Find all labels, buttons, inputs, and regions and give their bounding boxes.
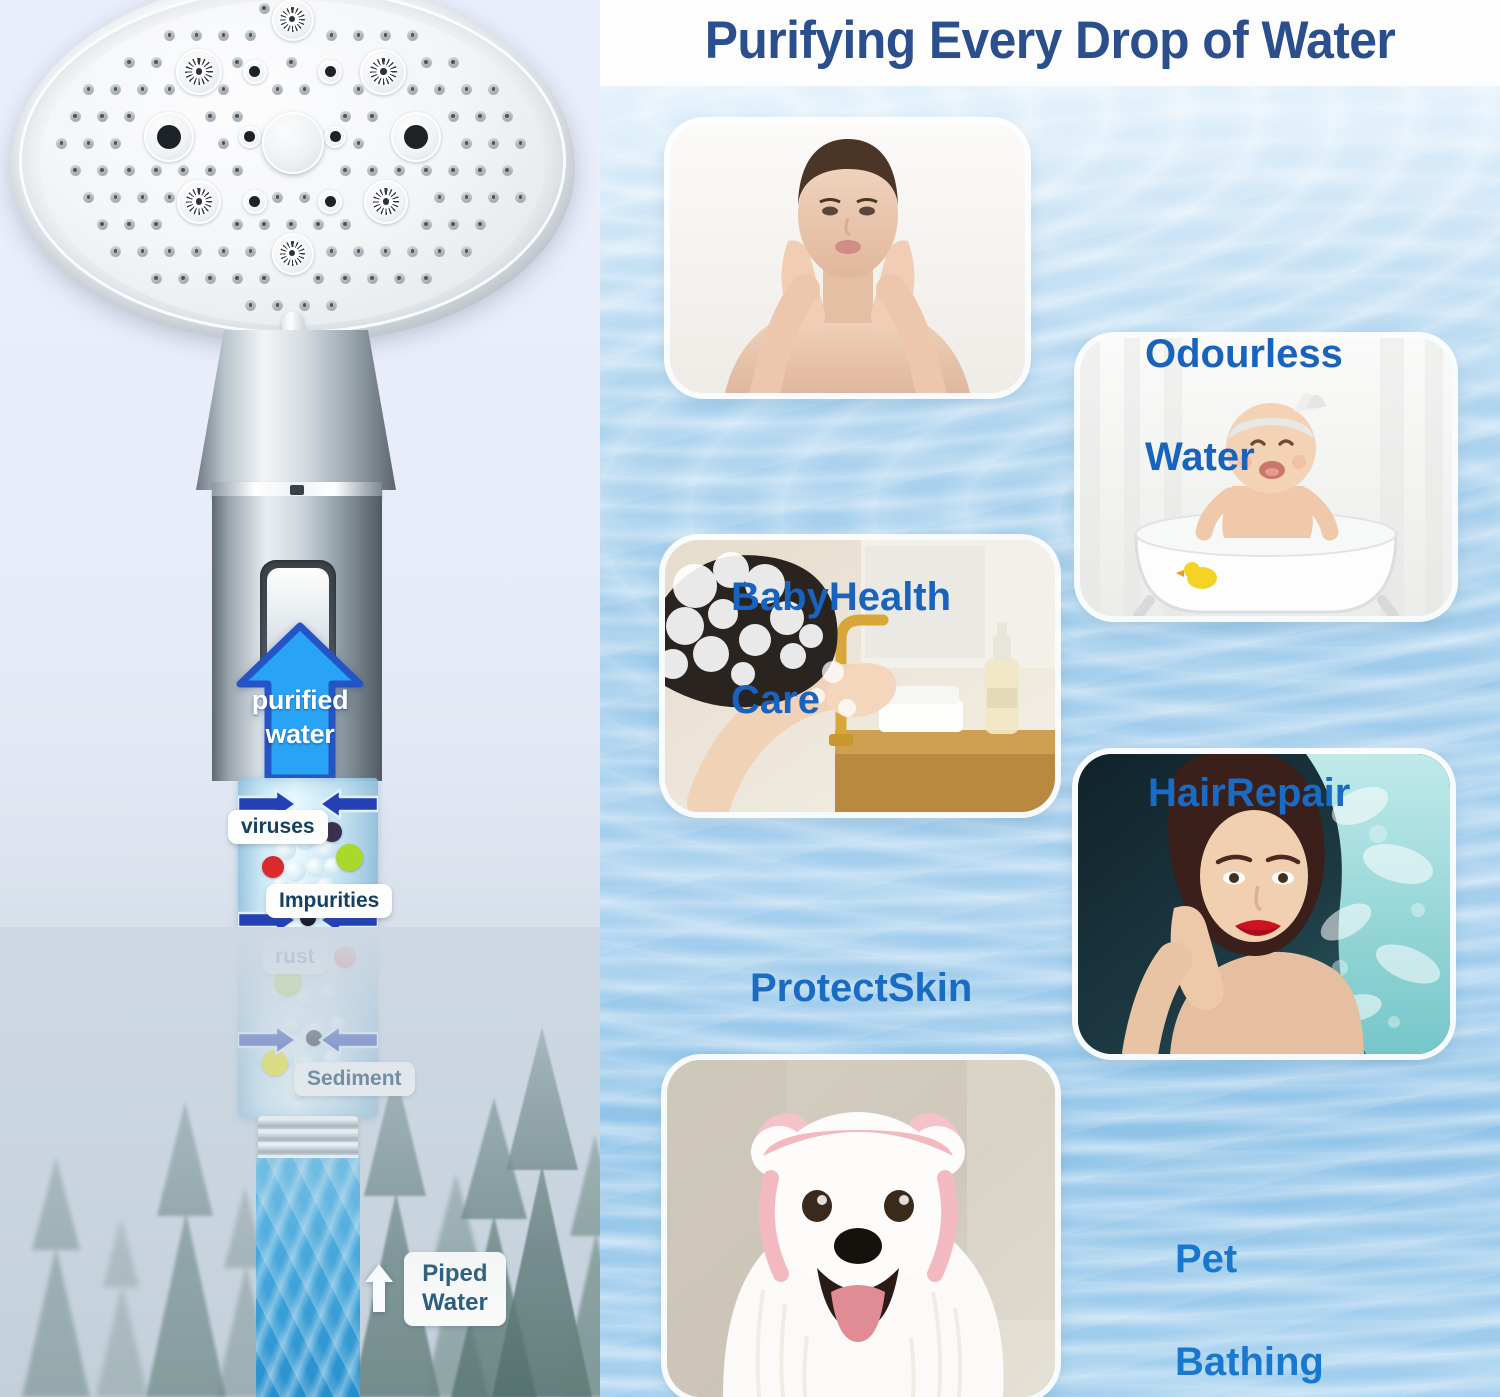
shower-nozzle (461, 192, 472, 203)
shower-nozzle (137, 84, 148, 95)
shower-nozzle (232, 219, 243, 230)
shower-nozzle (97, 111, 108, 122)
right-panel-benefits: Purifying Every Drop of Water (600, 0, 1500, 1397)
shower-nozzle (178, 165, 189, 176)
shower-nozzle (191, 30, 202, 41)
shower-nozzle (461, 138, 472, 149)
feature-label-odourless: Odourless Water (1145, 278, 1465, 483)
shower-nozzle (313, 219, 324, 230)
handle-neck (196, 330, 396, 490)
shower-nozzle (137, 246, 148, 257)
shower-nozzle (205, 165, 216, 176)
shower-center-hub (262, 112, 324, 174)
shower-nozzle (137, 192, 148, 203)
shower-jet (318, 60, 342, 84)
shower-nozzle (326, 246, 337, 257)
shower-nozzle (434, 192, 445, 203)
dog-being-bathed-image (667, 1060, 1055, 1397)
shower-nozzle (394, 165, 405, 176)
purified-water-label: purifiedwater (236, 684, 364, 752)
shower-head (10, 0, 575, 343)
forest-haze (0, 927, 600, 1397)
particle-green-1 (336, 844, 363, 871)
shower-nozzle (367, 165, 378, 176)
shower-nozzle (407, 84, 418, 95)
shower-nozzle (164, 84, 175, 95)
callout-viruses: viruses (228, 810, 328, 844)
shower-nozzle (448, 165, 459, 176)
shower-nozzle (421, 165, 432, 176)
shower-jet (243, 60, 267, 84)
shower-nozzle (421, 219, 432, 230)
pet-line1: Pet (1175, 1237, 1237, 1281)
particle-red-1 (262, 856, 284, 878)
shower-nozzle (299, 192, 310, 203)
odourless-line2: Water (1145, 435, 1255, 479)
pet-line2: Bathing (1175, 1340, 1324, 1384)
shower-nozzle (448, 57, 459, 68)
shower-nozzle (245, 30, 256, 41)
shower-nozzle (245, 246, 256, 257)
shower-nozzle (232, 165, 243, 176)
shower-nozzle (124, 165, 135, 176)
shower-nozzle (299, 84, 310, 95)
shower-nozzle (83, 192, 94, 203)
purified-line1: purified (252, 685, 349, 715)
shower-nozzle (151, 219, 162, 230)
shower-nozzle (110, 84, 121, 95)
shower-nozzle (461, 84, 472, 95)
shower-nozzle (421, 273, 432, 284)
shower-nozzle (83, 138, 94, 149)
shower-nozzle (218, 84, 229, 95)
shower-nozzle (488, 192, 499, 203)
shower-jet (272, 233, 314, 275)
shower-nozzle (340, 219, 351, 230)
shower-nozzle (475, 165, 486, 176)
shower-nozzle (151, 273, 162, 284)
shower-nozzle (286, 219, 297, 230)
shower-nozzle (434, 84, 445, 95)
shower-nozzle (164, 192, 175, 203)
shower-jet (144, 112, 194, 162)
shower-nozzle (272, 300, 283, 311)
shower-jet (318, 190, 342, 214)
feature-label-pet-bathing: Pet Bathing (1175, 1183, 1495, 1388)
shower-nozzle (151, 57, 162, 68)
shower-nozzle (475, 219, 486, 230)
shower-nozzle (164, 246, 175, 257)
shower-nozzle (353, 84, 364, 95)
shower-nozzle (340, 111, 351, 122)
shower-jet (239, 126, 261, 148)
purified-line2: water (265, 719, 334, 749)
shower-nozzle (326, 30, 337, 41)
shower-nozzle (340, 165, 351, 176)
shower-nozzle (407, 30, 418, 41)
shower-nozzle (178, 273, 189, 284)
shower-nozzle (353, 246, 364, 257)
shower-nozzle (70, 111, 81, 122)
forest-background (0, 927, 600, 1397)
shower-nozzle (434, 246, 445, 257)
shower-nozzle (205, 273, 216, 284)
shower-jet (324, 126, 346, 148)
shower-nozzle (272, 192, 283, 203)
babyhealth-line1: BabyHealth (731, 575, 951, 619)
shower-nozzle (488, 84, 499, 95)
shower-nozzle (110, 138, 121, 149)
woman-touching-face-image (670, 123, 1025, 393)
shower-nozzle (448, 219, 459, 230)
shower-nozzle (191, 246, 202, 257)
title-bar: Purifying Every Drop of Water (600, 0, 1500, 86)
shower-nozzle (299, 300, 310, 311)
shower-nozzle (232, 273, 243, 284)
shower-nozzle (56, 138, 67, 149)
shower-nozzle (502, 111, 513, 122)
left-panel-filter-diagram: purifiedwater (0, 0, 600, 1397)
shower-nozzle (97, 165, 108, 176)
odourless-line1: Odourless (1145, 332, 1343, 376)
page-title: Purifying Every Drop of Water (627, 10, 1473, 71)
shower-nozzle (124, 219, 135, 230)
shower-nozzle (407, 246, 418, 257)
shower-nozzle (110, 246, 121, 257)
shower-head-face (40, 0, 545, 325)
shower-nozzle (313, 273, 324, 284)
shower-nozzle (218, 246, 229, 257)
shower-nozzle (380, 30, 391, 41)
shower-nozzle (326, 300, 337, 311)
shower-nozzle (461, 246, 472, 257)
shower-nozzle (232, 57, 243, 68)
shower-nozzle (124, 111, 135, 122)
shower-nozzle (448, 111, 459, 122)
shower-nozzle (488, 138, 499, 149)
shower-jet (176, 49, 222, 95)
shower-nozzle (205, 111, 216, 122)
shower-nozzle (286, 57, 297, 68)
purified-water-arrow: purifiedwater (236, 622, 364, 782)
shower-nozzle (340, 273, 351, 284)
shower-nozzle (353, 138, 364, 149)
shower-nozzle (259, 3, 270, 14)
feature-label-protectskin: ProtectSkin (750, 963, 1110, 1014)
feature-label-hairrepair: HairRepair (1148, 768, 1478, 819)
shower-nozzle (259, 273, 270, 284)
shower-nozzle (394, 273, 405, 284)
shower-nozzle (97, 219, 108, 230)
photo-card-babyhealth (670, 123, 1025, 393)
shower-nozzle (218, 30, 229, 41)
shower-nozzle (245, 300, 256, 311)
shower-nozzle (259, 219, 270, 230)
shower-nozzle (353, 30, 364, 41)
infographic-root: purifiedwater (0, 0, 1500, 1397)
shower-nozzle (124, 57, 135, 68)
shower-jet (391, 112, 441, 162)
shower-nozzle (475, 111, 486, 122)
shower-nozzle (502, 165, 513, 176)
shower-nozzle (515, 192, 526, 203)
shower-nozzle (421, 57, 432, 68)
shower-nozzle (70, 165, 81, 176)
photo-card-pet-bathing (667, 1060, 1055, 1397)
shower-nozzle (272, 84, 283, 95)
callout-impurities: Impurities (266, 884, 392, 918)
shower-nozzle (232, 111, 243, 122)
shower-nozzle (151, 165, 162, 176)
shower-jet (360, 49, 406, 95)
babyhealth-line2: Care (731, 678, 820, 722)
shower-nozzle (380, 246, 391, 257)
shower-nozzle (367, 273, 378, 284)
shower-nozzle (164, 30, 175, 41)
shower-jet (243, 190, 267, 214)
shower-nozzle (83, 84, 94, 95)
shower-nozzle (515, 138, 526, 149)
shower-jet (364, 180, 408, 224)
shower-nozzle (110, 192, 121, 203)
feature-label-babyhealth: BabyHealth Care (731, 521, 1031, 726)
shower-jet (177, 180, 221, 224)
shower-jet (272, 0, 314, 41)
shower-nozzle (218, 138, 229, 149)
shower-nozzle (367, 111, 378, 122)
